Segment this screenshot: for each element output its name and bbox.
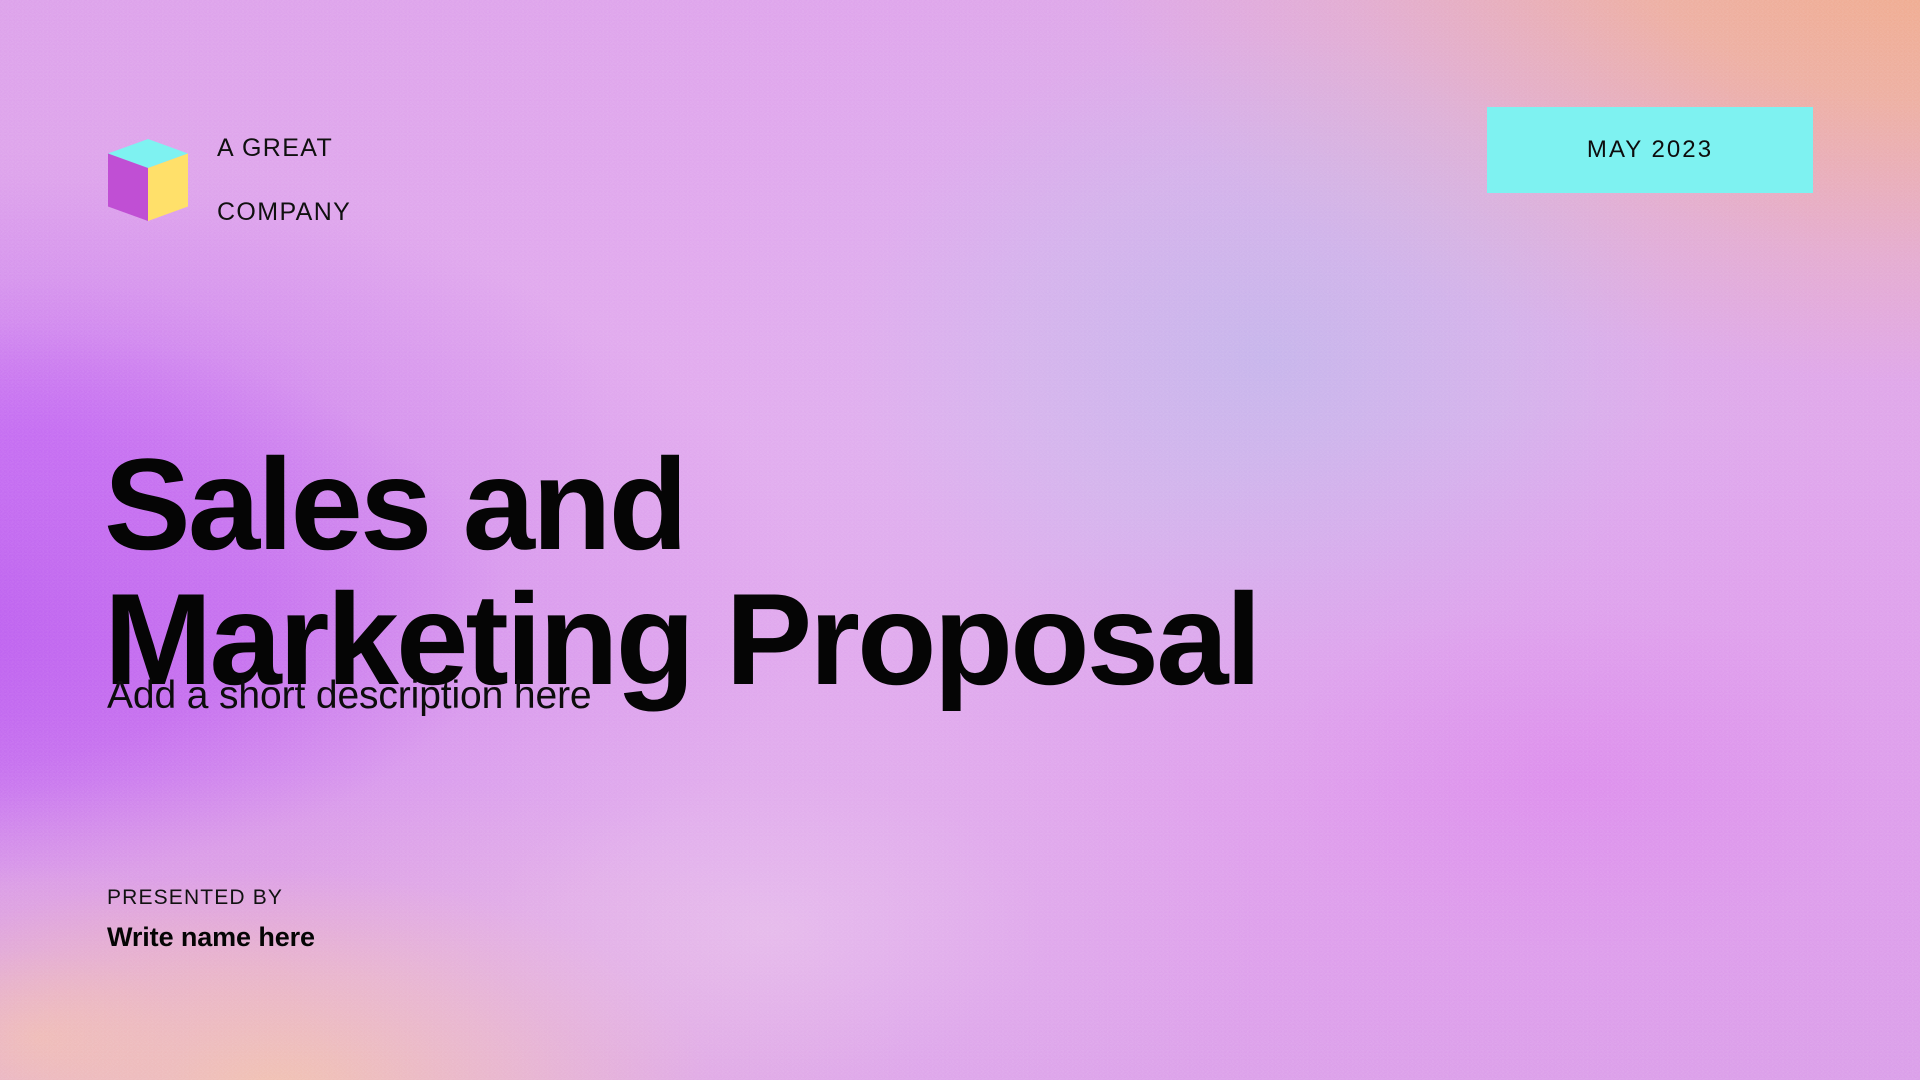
company-name-line-2: COMPANY	[217, 196, 351, 228]
date-badge[interactable]: MAY 2023	[1487, 107, 1813, 193]
isometric-cube-icon	[107, 138, 189, 222]
presented-by-label: PRESENTED BY	[107, 886, 315, 910]
slide-subtitle: Add a short description here	[107, 674, 592, 718]
presenter-block: PRESENTED BY Write name here	[107, 886, 315, 953]
date-badge-label: MAY 2023	[1587, 136, 1713, 164]
slide-title-line-1: Sales and	[104, 437, 1504, 572]
company-name: A GREAT COMPANY	[217, 100, 351, 260]
logo-lockup[interactable]: A GREAT COMPANY	[107, 100, 351, 260]
slide-title: Sales and Marketing Proposal	[104, 437, 1504, 706]
company-name-line-1: A GREAT	[217, 132, 351, 164]
presenter-name: Write name here	[107, 922, 315, 953]
presentation-slide: A GREAT COMPANY MAY 2023 Sales and Marke…	[0, 0, 1920, 1080]
slide-content: A GREAT COMPANY MAY 2023 Sales and Marke…	[0, 0, 1920, 1080]
